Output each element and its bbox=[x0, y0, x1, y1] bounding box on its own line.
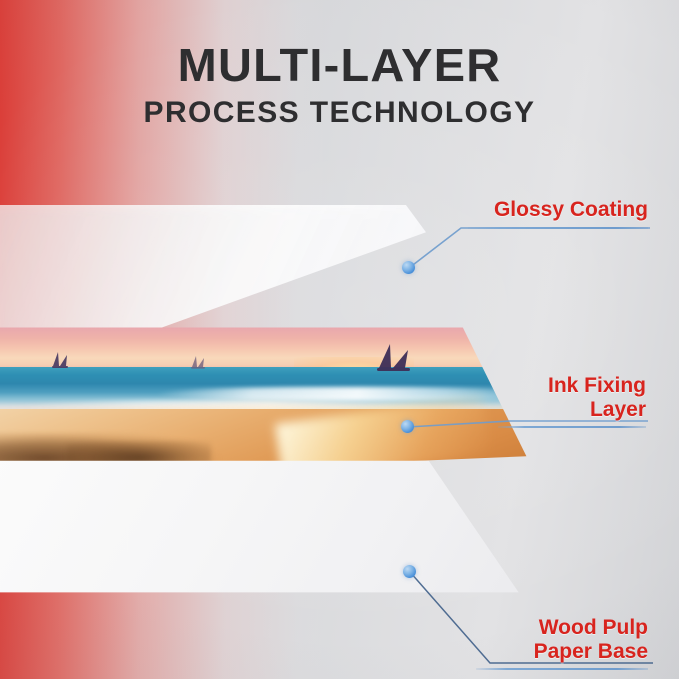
callout-paper-base-rule bbox=[476, 668, 648, 670]
multi-layer-process-infographic: MULTI-LAYER PROCESS TECHNOLOGY bbox=[0, 0, 679, 679]
beach-sunset-photo bbox=[0, 326, 543, 474]
callout-marker-dot-paper[interactable] bbox=[403, 565, 416, 578]
title-sub-line: PROCESS TECHNOLOGY bbox=[0, 94, 679, 132]
callout-ink-fixing-label: Ink Fixing Layer bbox=[498, 374, 646, 421]
layer-paper-base[interactable] bbox=[0, 458, 535, 598]
layer-glossy-coating[interactable] bbox=[0, 200, 426, 340]
page-title: MULTI-LAYER PROCESS TECHNOLOGY bbox=[0, 42, 679, 131]
callout-marker-dot-ink[interactable] bbox=[401, 420, 414, 433]
layer-ink-fixing[interactable] bbox=[0, 326, 543, 474]
callout-ink-fixing[interactable]: Ink Fixing Layer bbox=[498, 374, 646, 428]
callout-glossy-coating-label: Glossy Coating bbox=[468, 198, 648, 222]
layer-glossy-coating-shape bbox=[0, 200, 426, 340]
layer-ink-fixing-shape bbox=[0, 326, 543, 474]
title-main-line: MULTI-LAYER bbox=[0, 42, 679, 89]
callout-paper-base[interactable]: Wood Pulp Paper Base bbox=[476, 616, 648, 670]
callout-ink-fixing-rule bbox=[498, 426, 646, 428]
callout-paper-base-label: Wood Pulp Paper Base bbox=[476, 616, 648, 663]
layer-paper-base-shape bbox=[0, 458, 535, 598]
photo-sailboats bbox=[0, 326, 543, 474]
callout-glossy-coating[interactable]: Glossy Coating bbox=[468, 198, 648, 229]
callout-marker-dot-glossy[interactable] bbox=[402, 261, 415, 274]
callout-glossy-coating-rule bbox=[468, 227, 648, 229]
